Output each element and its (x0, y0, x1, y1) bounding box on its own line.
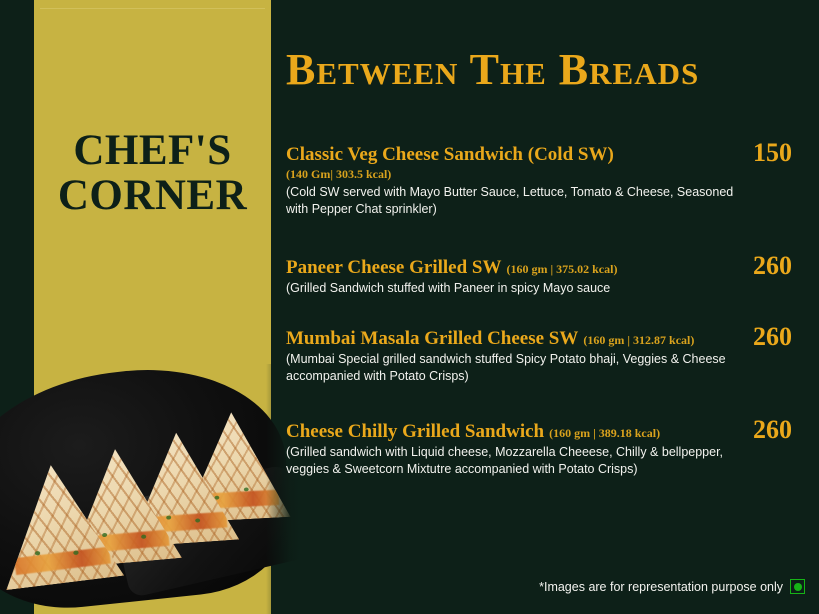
menu-item-price: 260 (753, 417, 819, 443)
menu-item: Paneer Cheese Grilled SW(160 gm | 375.02… (286, 257, 819, 297)
sandwich-filling (14, 546, 110, 574)
footer-note: *Images are for representation purpose o… (539, 579, 805, 594)
chefs-corner-line-2: CORNER (34, 173, 271, 218)
board-title: Between The Breads (286, 48, 699, 92)
chefs-corner-line-1: CHEF'S (73, 127, 231, 174)
menu-item-header: Mumbai Masala Grilled Cheese SW(160 gm |… (286, 328, 819, 349)
panel-inner-rule (40, 8, 265, 9)
veg-mark-dot (794, 583, 802, 591)
veg-mark-icon (790, 579, 805, 594)
menu-item: Cheese Chilly Grilled Sandwich(160 gm | … (286, 421, 819, 478)
menu-item-description: (Cold SW served with Mayo Butter Sauce, … (286, 184, 741, 218)
menu-item-nutrition: (160 gm | 312.87 kcal) (583, 333, 694, 347)
menu-item-nutrition: (160 gm | 389.18 kcal) (549, 426, 660, 440)
menu-item: Classic Veg Cheese Sandwich (Cold SW) (1… (286, 144, 819, 217)
menu-item-price: 260 (753, 324, 819, 350)
menu-item-description: (Grilled sandwich with Liquid cheese, Mo… (286, 444, 741, 478)
menu-item-name: Classic Veg Cheese Sandwich (Cold SW) (286, 144, 614, 165)
menu-item-description: (Grilled Sandwich stuffed with Paneer in… (286, 280, 741, 297)
menu-item-nutrition: (140 Gm| 303.5 kcal) (286, 167, 747, 181)
menu-item-price: 260 (753, 253, 819, 279)
menu-board: CHEF'S CORNER Betw (0, 0, 819, 614)
menu-item-header: Paneer Cheese Grilled SW(160 gm | 375.02… (286, 257, 819, 278)
menu-item-header: Cheese Chilly Grilled Sandwich(160 gm | … (286, 421, 819, 442)
menu-item-name: Cheese Chilly Grilled Sandwich (286, 421, 544, 442)
menu-item-header: Classic Veg Cheese Sandwich (Cold SW) (1… (286, 144, 819, 182)
representation-disclaimer: *Images are for representation purpose o… (539, 580, 783, 594)
veg-fleck (244, 487, 249, 491)
menu-item-price: 150 (753, 140, 819, 166)
chefs-corner-heading: CHEF'S CORNER (34, 128, 271, 218)
menu-item: Mumbai Masala Grilled Cheese SW(160 gm |… (286, 328, 819, 385)
menu-item-name: Paneer Cheese Grilled SW (286, 257, 501, 278)
sandwich-photo (0, 364, 300, 614)
menu-content: Between The Breads Classic Veg Cheese Sa… (286, 0, 819, 614)
veg-fleck (141, 534, 146, 539)
menu-item-nutrition: (160 gm | 375.02 kcal) (506, 262, 617, 276)
menu-item-name: Mumbai Masala Grilled Cheese SW (286, 328, 578, 349)
menu-item-description: (Mumbai Special grilled sandwich stuffed… (286, 351, 741, 385)
